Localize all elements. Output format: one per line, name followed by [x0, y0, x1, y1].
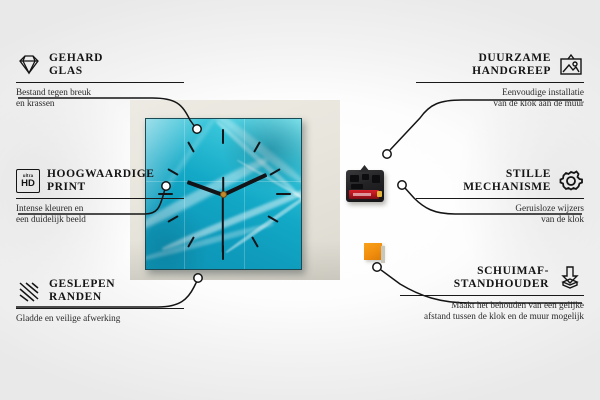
feature-schuimafstandhouder: SCHUIMAF- STANDHOUDER Maakt het behouden…: [398, 265, 584, 322]
feature-title: SCHUIMAF- STANDHOUDER: [454, 265, 549, 291]
battery-terminal: [377, 191, 382, 197]
foam-spacer-side: [381, 246, 385, 263]
feature-desc-line: Intense kleuren en: [16, 203, 186, 214]
feature-header: SCHUIMAF- STANDHOUDER: [398, 265, 584, 291]
feature-title: HOOGWAARDIGE PRINT: [47, 168, 155, 194]
feature-header: DUURZAME HANDGREEP: [414, 52, 584, 78]
feature-duurzame-handgreep: DUURZAME HANDGREEP Eenvoudige installati…: [414, 52, 584, 109]
infographic-canvas: GEHARD GLAS Bestand tegen breuk en krass…: [0, 0, 600, 400]
feature-title: STILLE MECHANISME: [463, 168, 551, 194]
feature-desc-line: Maakt het behouden van een gelijke: [398, 300, 584, 311]
tick-3: [276, 193, 291, 195]
clock-center-pin: [220, 191, 227, 198]
feature-desc-line: een duidelijk beeld: [16, 214, 186, 225]
feature-desc-line: afstand tussen de klok en de muur mogeli…: [398, 311, 584, 322]
feature-gehard-glas: GEHARD GLAS Bestand tegen breuk en krass…: [16, 52, 186, 109]
feature-divider: [16, 308, 184, 309]
feature-desc-line: Gladde en veilige afwerking: [16, 313, 186, 324]
feature-title: GESLEPEN RANDEN: [49, 278, 115, 304]
mechanism-detail: [350, 175, 359, 182]
feature-desc-line: Eenvoudige installatie: [414, 87, 584, 98]
feature-hoogwaardige-print: ultra HD HOOGWAARDIGE PRINT Intense kleu…: [16, 168, 186, 225]
feature-desc-line: van de klok aan de muur: [414, 98, 584, 109]
feature-desc-line: en krassen: [16, 98, 186, 109]
arrow-down-pad-icon: [556, 265, 584, 291]
mechanism-detail: [362, 174, 369, 180]
feature-title: GEHARD GLAS: [49, 52, 103, 78]
feature-stille-mechanisme: STILLE MECHANISME Geruisloze wijzers van…: [414, 168, 584, 225]
feature-divider: [16, 198, 184, 199]
feature-header: GESLEPEN RANDEN: [16, 278, 186, 304]
feature-divider: [416, 82, 584, 83]
feature-geslepen-randen: GESLEPEN RANDEN Gladde en veilige afwerk…: [16, 278, 186, 324]
feature-divider: [400, 295, 584, 296]
second-hand: [222, 195, 224, 253]
picture-frame-icon: [558, 53, 584, 77]
feature-header: STILLE MECHANISME: [414, 168, 584, 194]
feature-title: DUURZAME HANDGREEP: [472, 52, 551, 78]
ultra-hd-icon: ultra HD: [16, 169, 40, 193]
feature-header: ultra HD HOOGWAARDIGE PRINT: [16, 168, 186, 194]
feature-desc-line: van de klok: [414, 214, 584, 225]
diagonal-lines-icon: [16, 280, 42, 302]
feature-header: GEHARD GLAS: [16, 52, 186, 78]
battery-label: [353, 193, 371, 196]
feature-divider: [16, 82, 184, 83]
panel-seam: [244, 119, 245, 269]
clock-mechanism: [346, 170, 384, 202]
mechanism-detail: [372, 175, 380, 183]
diamond-icon: [16, 54, 42, 76]
aa-battery: [349, 190, 379, 199]
foam-spacer: [364, 243, 382, 260]
tick-12: [222, 129, 224, 144]
mechanism-detail: [351, 184, 363, 189]
gear-icon: [558, 169, 584, 193]
feature-desc-line: Geruisloze wijzers: [414, 203, 584, 214]
feature-desc-line: Bestand tegen breuk: [16, 87, 186, 98]
feature-divider: [416, 198, 584, 199]
